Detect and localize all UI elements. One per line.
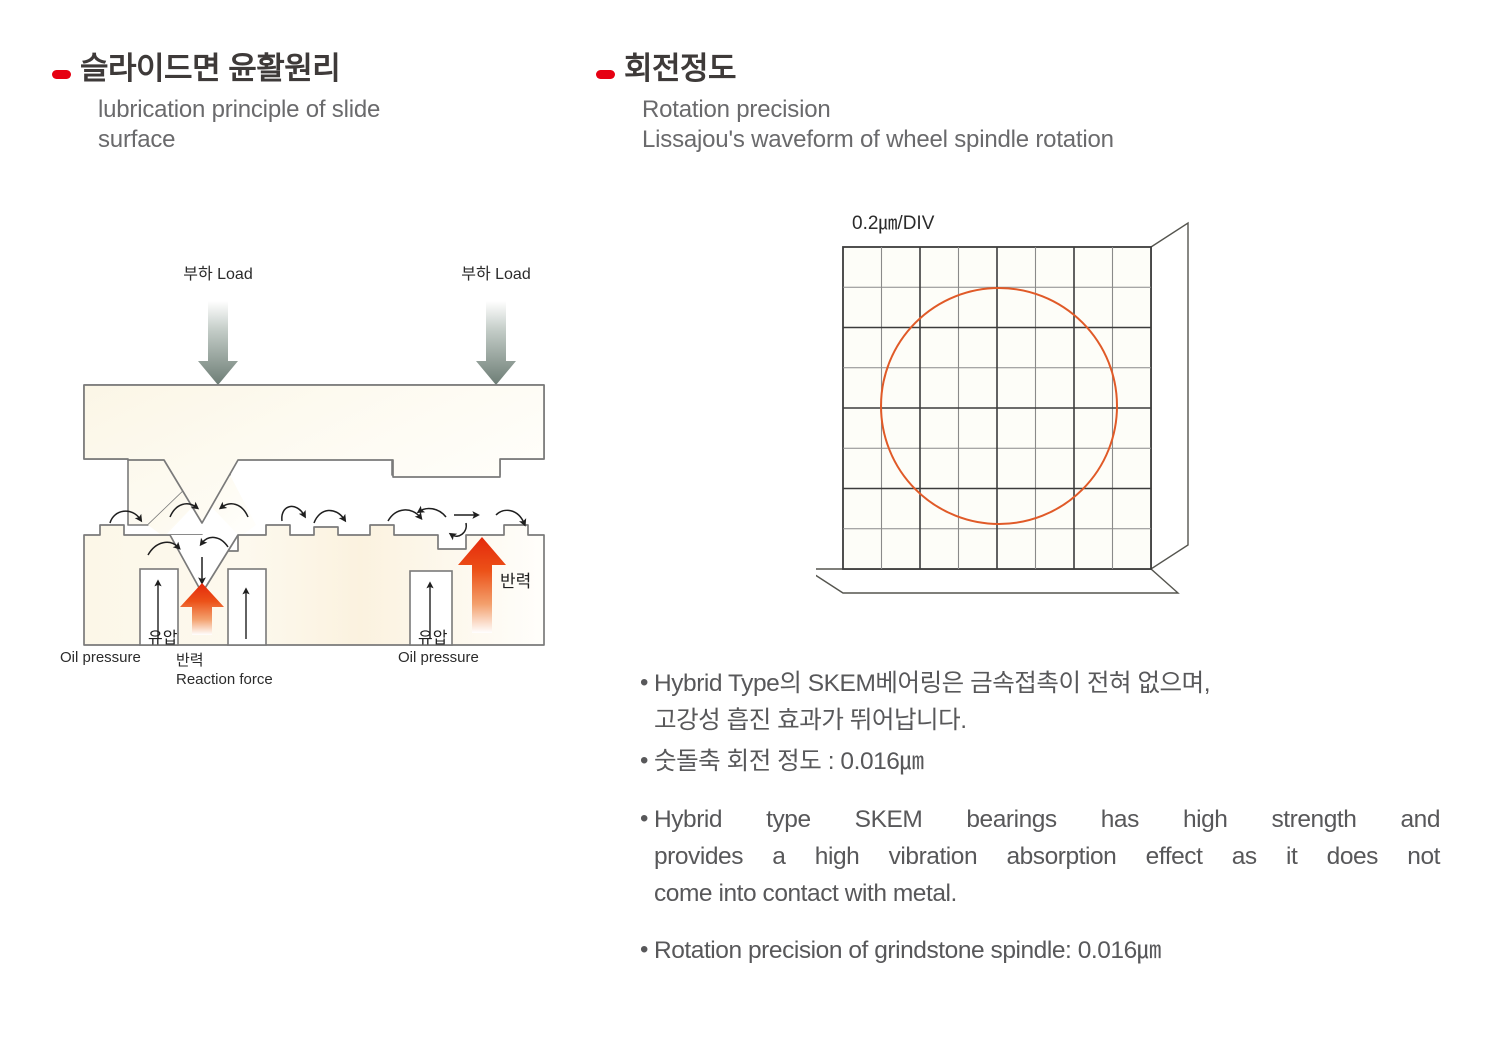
caption-reaction-en-center: Reaction force bbox=[176, 671, 273, 688]
red-dash-bullet-icon bbox=[596, 70, 615, 79]
label-oil-pressure-ko-left: 유압 bbox=[148, 629, 178, 647]
caption-reaction-ko-center: 반력 bbox=[176, 649, 204, 670]
bullet-text: 숫돌축 회전 정도 : 0.016㎛ bbox=[654, 743, 924, 780]
bullet-dot-icon: • bbox=[640, 801, 654, 837]
red-dash-bullet-icon bbox=[52, 70, 71, 79]
left-heading-english-line2: surface bbox=[98, 125, 592, 156]
label-reaction-ko-right: 반력 bbox=[500, 572, 531, 591]
bullet-text: Rotation precision of grindstone spindle… bbox=[654, 932, 1161, 969]
bullet-dot-icon: • bbox=[640, 743, 654, 779]
bullet-text: Hybrid Type의 SKEM베어링은 금속접촉이 전혀 없으며, 고강성 … bbox=[654, 665, 1210, 739]
list-item: • Hybrid Type의 SKEM베어링은 금속접촉이 전혀 없으며, 고강… bbox=[640, 665, 1456, 739]
left-heading-korean: 슬라이드면 윤활원리 bbox=[80, 50, 340, 89]
right-heading-english: Rotation precision Lissajou's waveform o… bbox=[642, 95, 1456, 156]
list-item: • Hybrid type SKEM bearings has high str… bbox=[640, 801, 1456, 913]
left-column: 슬라이드면 윤활원리 lubrication principle of slid… bbox=[52, 50, 592, 156]
load-arrow-left bbox=[198, 301, 238, 385]
lissajous-chart: 0.2㎛/DIV bbox=[816, 205, 1246, 615]
left-heading-english: lubrication principle of slide surface bbox=[98, 95, 592, 156]
list-item: • Rotation precision of grindstone spind… bbox=[640, 932, 1456, 969]
bullet-text: Hybrid type SKEM bearings has high stren… bbox=[654, 801, 1440, 913]
left-heading-english-line1: lubrication principle of slide bbox=[98, 95, 592, 126]
lubrication-principle-diagram: 부하 Load 부하 Load bbox=[52, 235, 592, 655]
right-heading-english-line2: Lissajou's waveform of wheel spindle rot… bbox=[642, 125, 1456, 156]
label-load-right: 부하 Load bbox=[461, 265, 530, 283]
load-arrow-right bbox=[476, 301, 516, 385]
right-heading-korean: 회전정도 bbox=[624, 50, 736, 89]
left-heading-row: 슬라이드면 윤활원리 bbox=[52, 50, 592, 89]
bullet-dot-icon: • bbox=[640, 665, 654, 701]
bullet-dot-icon: • bbox=[640, 932, 654, 968]
list-item: • 숫돌축 회전 정도 : 0.016㎛ bbox=[640, 743, 1456, 780]
caption-oil-pressure-left: Oil pressure bbox=[60, 649, 141, 666]
bullet-list: • Hybrid Type의 SKEM베어링은 금속접촉이 전혀 없으며, 고강… bbox=[640, 665, 1456, 974]
label-load-left: 부하 Load bbox=[183, 265, 252, 283]
right-heading-english-line1: Rotation precision bbox=[642, 95, 1456, 126]
right-column: 회전정도 Rotation precision Lissajou's wavef… bbox=[596, 50, 1456, 156]
label-oil-pressure-ko-right: 유압 bbox=[418, 629, 448, 647]
caption-oil-pressure-right: Oil pressure bbox=[398, 649, 479, 666]
chart-scale-label: 0.2㎛/DIV bbox=[852, 213, 935, 234]
right-heading-row: 회전정도 bbox=[596, 50, 1456, 89]
